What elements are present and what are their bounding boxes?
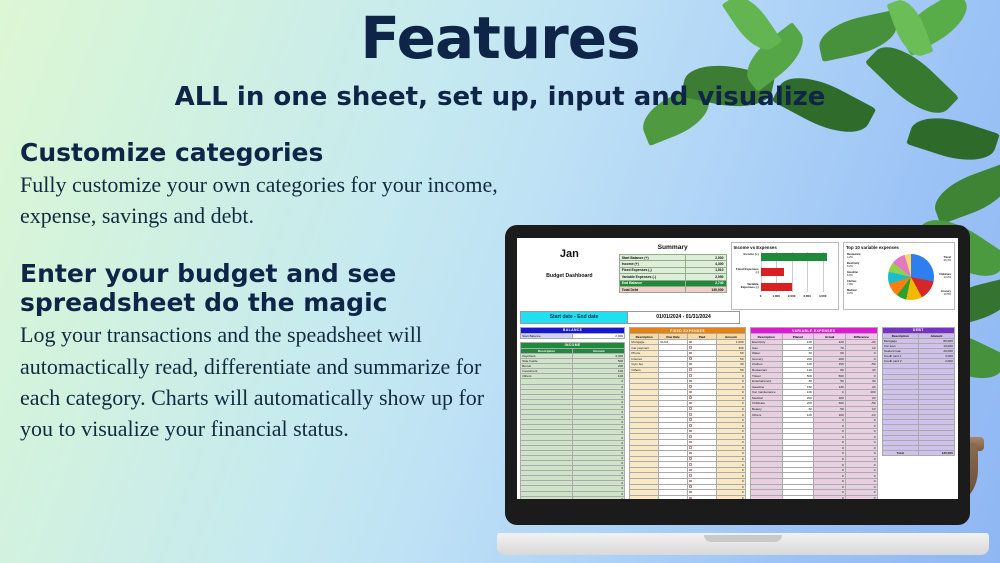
page-title: Features xyxy=(0,4,1000,72)
laptop-screen-bezel: Jan Budget Dashboard Summary Start Balan… xyxy=(505,225,970,525)
paid-checkbox[interactable] xyxy=(689,352,692,355)
paid-checkbox[interactable] xyxy=(689,413,692,416)
balance-table[interactable]: BALANCEStart Balance2,000 xyxy=(520,327,625,339)
page-subtitle: ALL in one sheet, set up, input and visu… xyxy=(0,82,1000,112)
pie-legend-label: Restaurant4.2% xyxy=(847,253,861,259)
laptop-mockup: Jan Budget Dashboard Summary Start Balan… xyxy=(497,225,989,555)
table-cell[interactable]: 0 xyxy=(573,496,625,499)
bar-plot-area: Income (+)Fixed Expenses (-)Variable Exp… xyxy=(761,252,832,302)
income-vs-expenses-title: Income vs Expenses xyxy=(734,245,836,250)
pie-legend-label: Gasoline6.6% xyxy=(847,271,858,277)
pie-legend-label: Childcare13.2% xyxy=(939,273,951,279)
paid-checkbox[interactable] xyxy=(689,374,692,377)
debt-total-value: 130,000 xyxy=(918,450,954,455)
table-cell[interactable] xyxy=(688,495,717,499)
top-variable-expenses-chart: Top 10 variable expenses Restaurant4.2%E… xyxy=(843,242,955,310)
pie-label-percent: 7.9% xyxy=(847,283,853,286)
pie-label-percent: 13.2% xyxy=(944,276,951,279)
month-label: Jan xyxy=(520,248,619,260)
table-cell[interactable] xyxy=(521,496,573,499)
paid-checkbox[interactable] xyxy=(689,346,692,349)
laptop-screen: Jan Budget Dashboard Summary Start Balan… xyxy=(517,238,958,499)
paid-checkbox[interactable] xyxy=(689,463,692,466)
paid-checkbox[interactable] xyxy=(689,391,692,394)
table-cell[interactable] xyxy=(630,495,659,499)
paid-checkbox-checked[interactable] xyxy=(689,341,692,344)
dashboard-label: Budget Dashboard xyxy=(520,273,619,279)
x-axis-tick: 3,000 xyxy=(803,294,811,298)
table-cell[interactable] xyxy=(782,495,814,499)
summary-row: Total Debt130,000 xyxy=(619,286,726,292)
feature-heading-2: Enter your budget and see spreadsheet do… xyxy=(20,259,520,317)
paid-checkbox[interactable] xyxy=(689,491,692,494)
pie-label-percent: 4.2% xyxy=(847,256,853,259)
table-row[interactable]: Start Balance2,000 xyxy=(521,333,625,338)
summary-panel: Summary Start Balance (+)2,000Income (+)… xyxy=(619,242,727,310)
pie-label-percent: 9.2% xyxy=(847,292,853,295)
pie-label-percent: 10.5% xyxy=(944,293,951,296)
pie-label-percent: 9.2% xyxy=(847,265,853,268)
pie-legend-label: Electricity9.2% xyxy=(847,262,859,268)
paid-checkbox[interactable] xyxy=(689,363,692,366)
pie-slices xyxy=(888,254,934,300)
bar-series-item xyxy=(761,253,828,261)
paid-checkbox[interactable] xyxy=(689,407,692,410)
table-cell[interactable] xyxy=(750,495,782,499)
date-range-value[interactable]: 01/01/2024 - 01/31/2024 xyxy=(628,311,740,324)
pie-legend-label: Travel26.3% xyxy=(943,256,951,262)
paid-checkbox[interactable] xyxy=(689,469,692,472)
paid-checkbox[interactable] xyxy=(689,446,692,449)
paid-checkbox[interactable] xyxy=(689,497,692,499)
debt-total-label: Total xyxy=(882,450,918,455)
income-table[interactable]: INCOMEDescriptionAmountPaycheck3,400Side… xyxy=(520,342,625,499)
date-range-row[interactable]: Start date - End date 01/01/2024 - 01/31… xyxy=(517,310,958,327)
x-axis-tick: 4,000 xyxy=(819,294,827,298)
date-range-label: Start date - End date xyxy=(520,311,628,324)
summary-title: Summary xyxy=(619,244,727,251)
paid-checkbox[interactable] xyxy=(689,452,692,455)
table-cell[interactable]: 0 xyxy=(814,495,846,499)
budget-spreadsheet[interactable]: Jan Budget Dashboard Summary Start Balan… xyxy=(517,238,958,499)
bar-category-label: Variable Expenses (-) xyxy=(733,283,759,290)
pie-legend-label: Grocery10.5% xyxy=(941,290,951,296)
x-axis-tick: 2,000 xyxy=(788,294,796,298)
bar-series-item xyxy=(761,268,784,276)
paid-checkbox[interactable] xyxy=(689,430,692,433)
fixed-expenses-table[interactable]: FIXED EXPENSESDescriptionDue DatePaidAmo… xyxy=(629,327,746,499)
feature-body-2: Log your transactions and the speadsheet… xyxy=(20,319,520,444)
paid-checkbox[interactable] xyxy=(689,396,692,399)
feature-body-1: Fully customize your own categories for … xyxy=(20,169,520,231)
paid-checkbox[interactable] xyxy=(689,441,692,444)
paid-checkbox[interactable] xyxy=(689,457,692,460)
pie-legend-label: Clothes7.9% xyxy=(847,280,857,286)
paid-checkbox[interactable] xyxy=(689,402,692,405)
paid-checkbox[interactable] xyxy=(689,368,692,371)
income-vs-expenses-chart: Income vs Expenses Income (+)Fixed Expen… xyxy=(731,242,839,310)
paid-checkbox[interactable] xyxy=(689,357,692,360)
debt-total-row: Total130,000 xyxy=(882,450,954,455)
bar-category-label: Income (+) xyxy=(733,253,759,256)
summary-row-label: Total Debt xyxy=(619,286,685,292)
pie-label-percent: 26.3% xyxy=(944,259,951,262)
paid-checkbox[interactable] xyxy=(689,435,692,438)
table-cell[interactable]: 0 xyxy=(716,495,745,499)
x-axis: 01,0002,0003,0004,000 xyxy=(761,294,832,302)
summary-table: Start Balance (+)2,000Income (+)4,300Fix… xyxy=(619,254,727,293)
table-cell[interactable] xyxy=(659,495,688,499)
table-cell[interactable]: Start Balance xyxy=(521,333,573,338)
laptop-trackpad-notch xyxy=(704,535,782,542)
pie-legend-label: Medical9.2% xyxy=(847,289,857,295)
table-row[interactable]: 0 xyxy=(630,495,746,499)
bar-series-item xyxy=(761,283,793,291)
paid-checkbox[interactable] xyxy=(689,480,692,483)
variable-expenses-table[interactable]: VARIABLE EXPENSESDescriptionPlanedActual… xyxy=(750,327,878,499)
pie-label-percent: 6.6% xyxy=(847,274,853,277)
bar-row: Fixed Expenses (-) xyxy=(761,267,832,278)
table-row[interactable]: 0 xyxy=(521,496,625,499)
feature-copy: Customize categories Fully customize you… xyxy=(20,138,520,444)
bar-category-label: Fixed Expenses (-) xyxy=(733,268,759,275)
dashboard-title-block: Jan Budget Dashboard xyxy=(520,242,619,310)
table-cell[interactable]: 2,000 xyxy=(573,333,625,338)
table-row[interactable]: 00 xyxy=(750,495,877,499)
paid-checkbox[interactable] xyxy=(689,485,692,488)
pie-chart-title: Top 10 variable expenses xyxy=(846,245,952,250)
pie-plot-area: Restaurant4.2%Electricity9.2%Gasoline6.6… xyxy=(846,252,952,304)
paid-checkbox[interactable] xyxy=(689,418,692,421)
x-axis-tick: 0 xyxy=(760,294,762,298)
bar-row: Income (+) xyxy=(761,252,832,263)
paid-checkbox[interactable] xyxy=(689,424,692,427)
paid-checkbox[interactable] xyxy=(689,474,692,477)
feature-heading-1: Customize categories xyxy=(20,138,520,167)
paid-checkbox[interactable] xyxy=(689,385,692,388)
debt-table[interactable]: DEBTDescriptionAmountMortgage80,000Car l… xyxy=(882,327,955,456)
summary-row-value: 130,000 xyxy=(685,286,726,292)
x-axis-tick: 1,000 xyxy=(772,294,780,298)
table-cell[interactable]: 0 xyxy=(845,495,877,499)
balance-income-column: BALANCEStart Balance2,000 INCOMEDescript… xyxy=(520,327,625,499)
paid-checkbox[interactable] xyxy=(689,380,692,383)
bar-row: Variable Expenses (-) xyxy=(761,282,832,293)
